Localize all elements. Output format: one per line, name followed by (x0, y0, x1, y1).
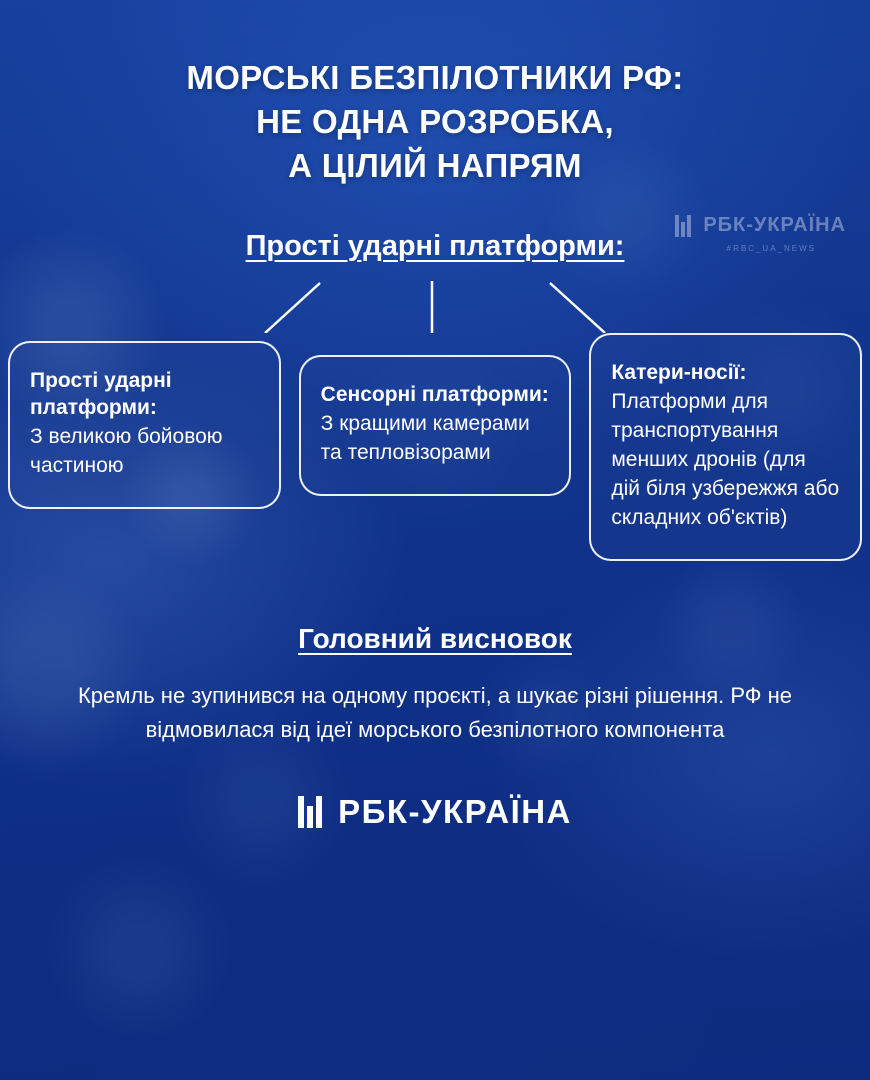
footer-logo-label: РБК-УКРАЇНА (338, 793, 572, 831)
card-body: Платформи для транспортування менших дро… (611, 388, 840, 533)
connector-left (265, 283, 320, 333)
card-carrier-boats: Катери-носії: Платформи для транспортува… (589, 333, 862, 561)
watermark-label: РБК-УКРАЇНА (703, 214, 846, 237)
infographic-poster: МОРСЬКІ БЕЗПІЛОТНИКИ РФ: НЕ ОДНА РОЗРОБК… (0, 0, 870, 1080)
page-title-line-2: НЕ ОДНА РОЗРОБКА, (0, 100, 870, 144)
card-sensor-platforms: Сенсорні платформи: З кращими камерами т… (299, 355, 572, 496)
rbc-logo-icon (298, 796, 325, 828)
card-group: Прості ударні платформи: З великою бойов… (0, 333, 870, 561)
connector-lines (0, 263, 870, 333)
page-title-line-3: А ЦІЛИЙ НАПРЯМ (0, 144, 870, 188)
card-title: Прості ударні платформи: (30, 367, 259, 422)
card-simple-strike-platforms: Прості ударні платформи: З великою бойов… (8, 341, 281, 510)
footer-logo: РБК-УКРАЇНА (0, 793, 870, 831)
connector-right (550, 283, 605, 333)
conclusion-title: Головний висновок (0, 623, 870, 655)
card-title: Сенсорні платформи: (321, 381, 550, 408)
page-title-line-1: МОРСЬКІ БЕЗПІЛОТНИКИ РФ: (0, 56, 870, 100)
watermark: РБК-УКРАЇНА #RBC_UA_NEWS (675, 214, 846, 237)
rbc-logo-icon (675, 215, 694, 237)
card-body: З великою бойовою частиною (30, 423, 259, 481)
poster-content: МОРСЬКІ БЕЗПІЛОТНИКИ РФ: НЕ ОДНА РОЗРОБК… (0, 0, 870, 1080)
conclusion-body: Кремль не зупинився на одному проєкті, а… (75, 679, 795, 747)
card-body: З кращими камерами та тепловізорами (321, 410, 550, 468)
page-title: МОРСЬКІ БЕЗПІЛОТНИКИ РФ: НЕ ОДНА РОЗРОБК… (0, 0, 870, 188)
connector-svg (0, 263, 870, 333)
watermark-sublabel: #RBC_UA_NEWS (727, 244, 816, 253)
card-title: Катери-носії: (611, 359, 840, 386)
